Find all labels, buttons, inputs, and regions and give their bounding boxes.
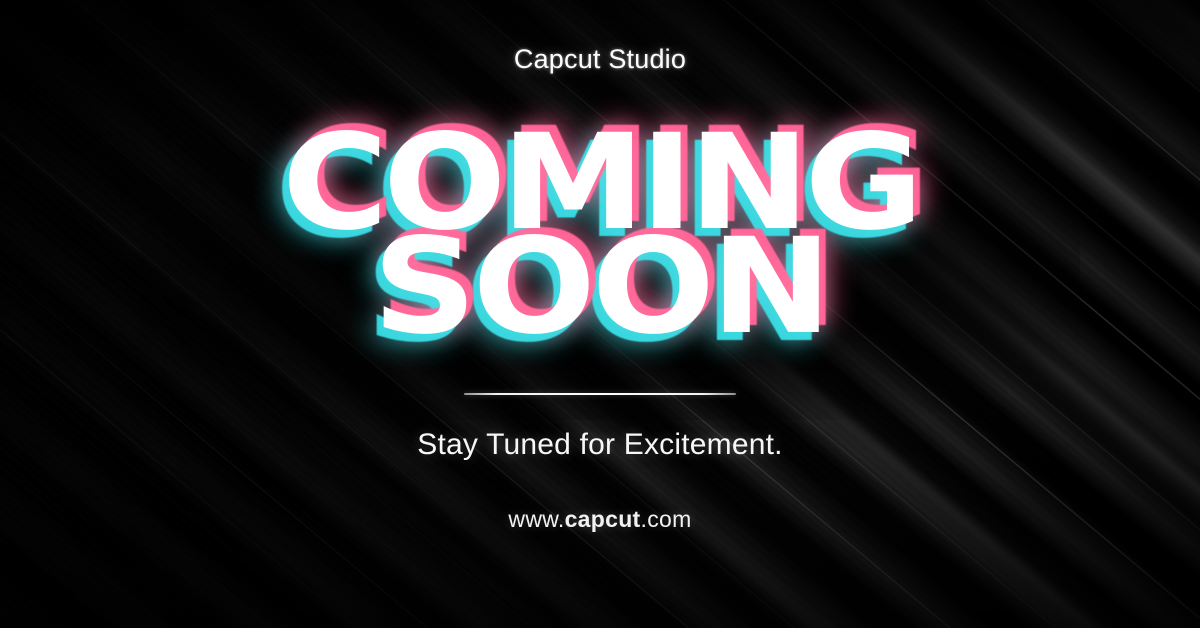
url-prefix: www.	[508, 506, 564, 532]
tagline-text: Stay Tuned for Excitement.	[417, 428, 782, 462]
headline-line2: SOON	[0, 221, 1200, 353]
brand-title: Capcut Studio	[514, 44, 686, 75]
poster-content: Capcut Studio COMING SOON COMING SOON CO…	[0, 0, 1200, 628]
website-url[interactable]: www.capcut.com	[508, 506, 691, 533]
coming-soon-poster: Capcut Studio COMING SOON COMING SOON CO…	[0, 0, 1200, 628]
headline-block: COMING SOON COMING SOON COMING SOON COMI…	[0, 117, 1200, 347]
divider-rule	[464, 393, 736, 395]
url-domain: capcut	[565, 506, 641, 532]
url-tld: .com	[641, 506, 692, 532]
